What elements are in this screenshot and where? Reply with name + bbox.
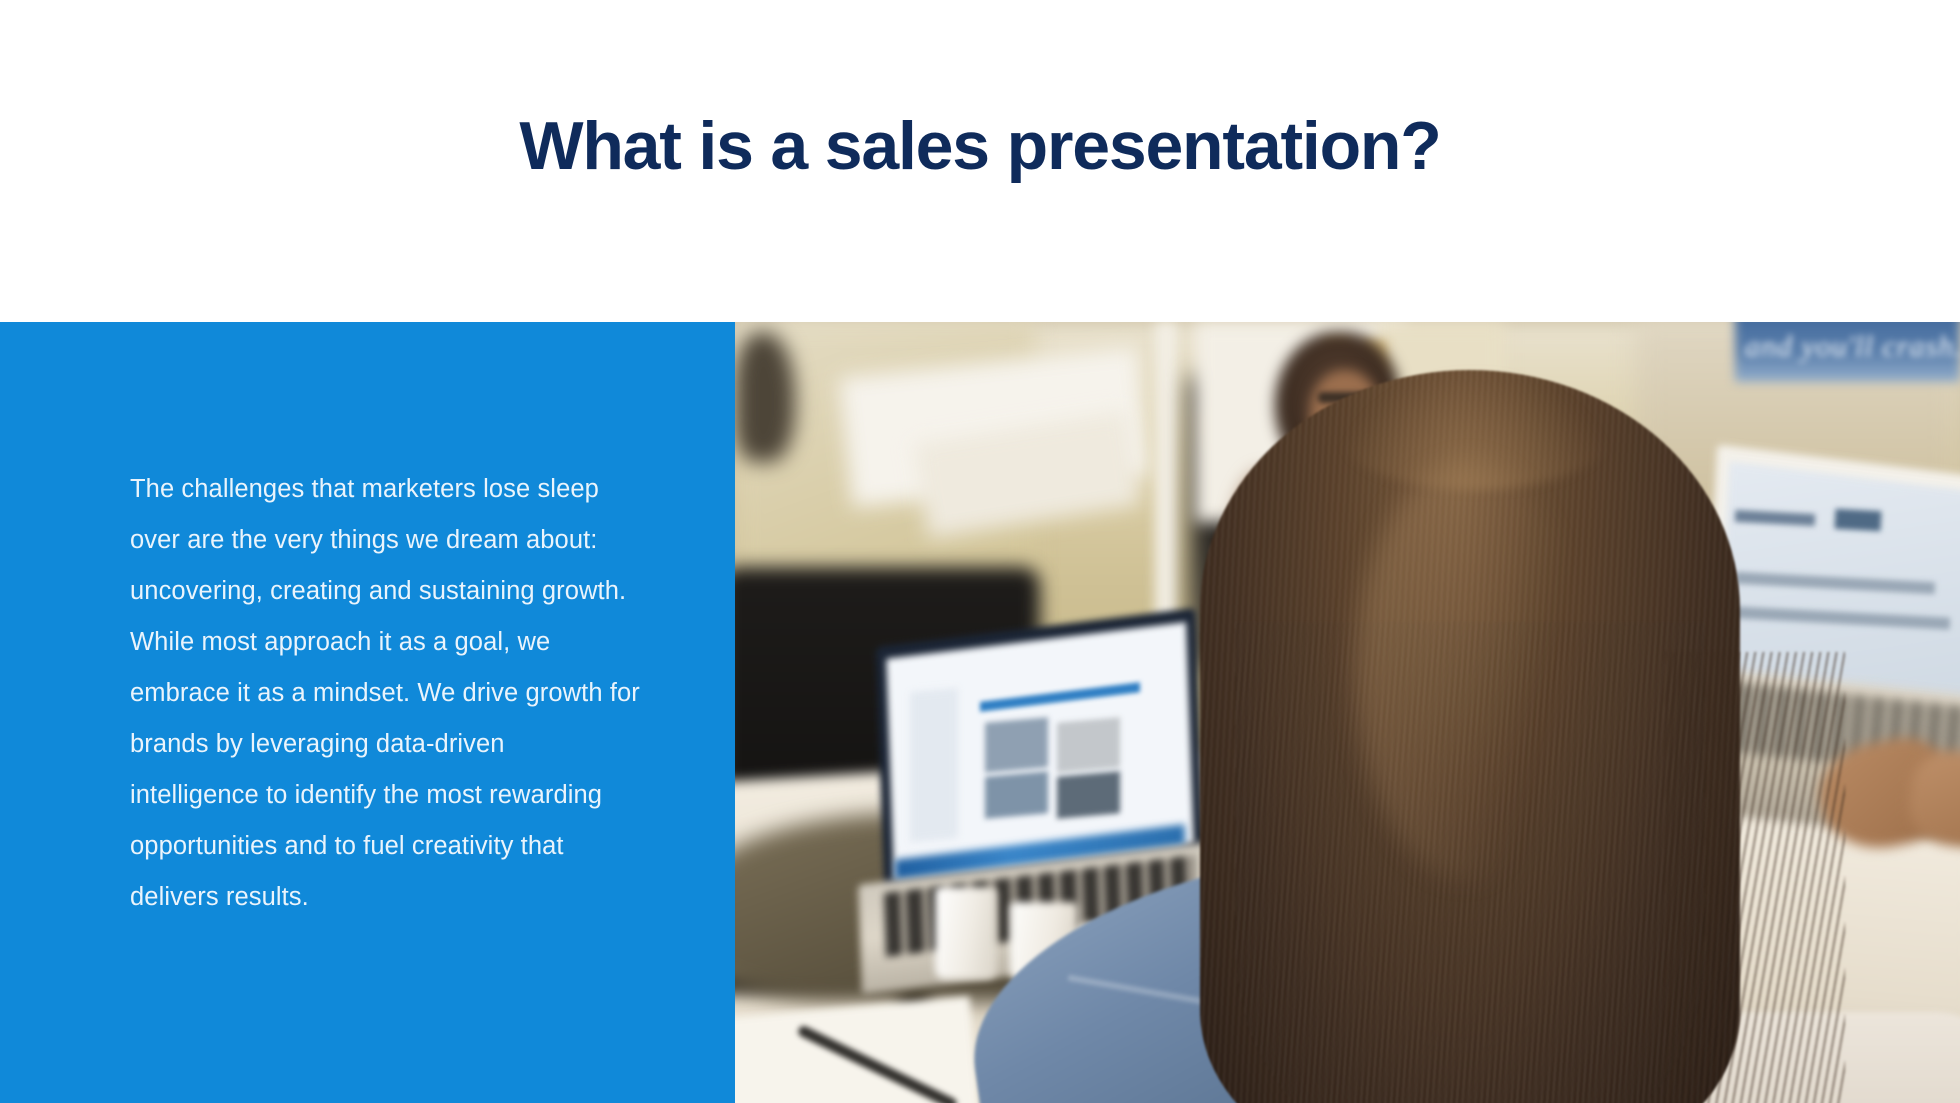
photo-hair-wisps (1665, 652, 1845, 1103)
slide-header: What is a sales presentation? (0, 0, 1960, 322)
photo-divider-post (1155, 322, 1177, 652)
photo-sign-text: and you'll crash. (1745, 330, 1955, 364)
presentation-slide: What is a sales presentation? The challe… (0, 0, 1960, 1103)
slide-body: The challenges that marketers lose sleep… (0, 322, 1960, 1103)
photo-laptop-left-thumbnail (985, 771, 1048, 819)
photo-laptop-left-thumbnail (1057, 717, 1120, 773)
photo-coffee-cup (935, 887, 997, 979)
blue-text-panel: The challenges that marketers lose sleep… (0, 322, 735, 1103)
photo-laptop-left-thumbnail (1057, 771, 1120, 819)
photo-laptop-left-sidebar (910, 688, 958, 842)
office-photo: and you'll crash. (735, 322, 1960, 1103)
photo-laptop-right-content (1835, 509, 1882, 531)
page-title: What is a sales presentation? (0, 112, 1960, 180)
photo-hair-crown-light (1335, 370, 1615, 490)
photo-laptop-left-thumbnail (985, 717, 1048, 773)
photo-wall-shadow (735, 332, 795, 462)
photo-hair-highlight (1355, 462, 1585, 882)
body-paragraph: The challenges that marketers lose sleep… (130, 464, 640, 923)
